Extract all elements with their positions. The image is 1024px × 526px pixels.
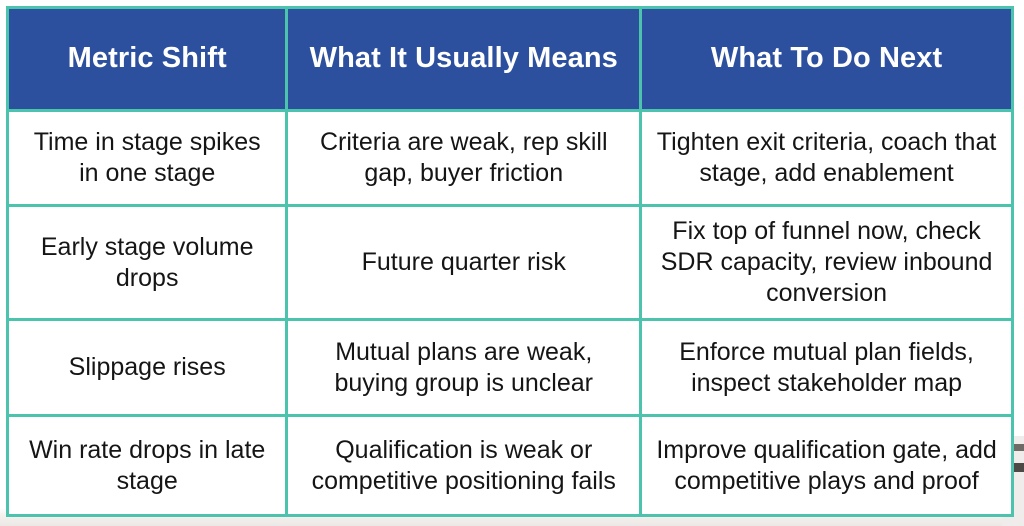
cell-what-it-usually-means: Criteria are weak, rep skill gap, buyer … [287, 111, 641, 206]
cell-metric-shift-text: Slippage rises [23, 352, 271, 383]
column-header-what-it-usually-means: What It Usually Means [287, 8, 641, 111]
cell-what-it-usually-means-text: Future quarter risk [302, 247, 625, 278]
cell-what-to-do-next: Enforce mutual plan fields, inspect stak… [641, 320, 1013, 416]
cell-what-it-usually-means-text: Criteria are weak, rep skill gap, buyer … [302, 127, 625, 189]
cell-what-it-usually-means: Mutual plans are weak, buying group is u… [287, 320, 641, 416]
column-header-metric-shift: Metric Shift [8, 8, 287, 111]
column-header-what-it-usually-means-label: What It Usually Means [302, 42, 625, 75]
cell-what-it-usually-means: Future quarter risk [287, 206, 641, 320]
cell-what-to-do-next: Tighten exit criteria, coach that stage,… [641, 111, 1013, 206]
cell-metric-shift: Early stage volume drops [8, 206, 287, 320]
table-row: Slippage rises Mutual plans are weak, bu… [8, 320, 1013, 416]
cell-what-it-usually-means: Qualification is weak or competitive pos… [287, 416, 641, 516]
metric-shift-table: Metric Shift What It Usually Means What … [6, 6, 1014, 517]
cell-metric-shift-text: Early stage volume drops [23, 232, 271, 294]
cell-what-it-usually-means-text: Qualification is weak or competitive pos… [302, 435, 625, 497]
cell-what-to-do-next-text: Enforce mutual plan fields, inspect stak… [656, 337, 997, 399]
table-row: Time in stage spikes in one stage Criter… [8, 111, 1013, 206]
table-row: Early stage volume drops Future quarter … [8, 206, 1013, 320]
cell-what-to-do-next-text: Tighten exit criteria, coach that stage,… [656, 127, 997, 189]
slide-canvas: Metric Shift What It Usually Means What … [0, 0, 1024, 526]
cell-metric-shift: Time in stage spikes in one stage [8, 111, 287, 206]
metric-shift-table-container: Metric Shift What It Usually Means What … [6, 6, 1014, 514]
table-body: Time in stage spikes in one stage Criter… [8, 111, 1013, 516]
column-header-what-to-do-next-label: What To Do Next [656, 42, 997, 75]
cell-metric-shift-text: Time in stage spikes in one stage [23, 127, 271, 189]
cell-what-to-do-next: Fix top of funnel now, check SDR capacit… [641, 206, 1013, 320]
cell-metric-shift-text: Win rate drops in late stage [23, 435, 271, 497]
column-header-metric-shift-label: Metric Shift [23, 42, 271, 75]
cell-what-it-usually-means-text: Mutual plans are weak, buying group is u… [302, 337, 625, 399]
cell-what-to-do-next-text: Improve qualification gate, add competit… [656, 435, 997, 497]
cell-what-to-do-next: Improve qualification gate, add competit… [641, 416, 1013, 516]
cell-metric-shift: Win rate drops in late stage [8, 416, 287, 516]
table-row: Win rate drops in late stage Qualificati… [8, 416, 1013, 516]
cell-metric-shift: Slippage rises [8, 320, 287, 416]
column-header-what-to-do-next: What To Do Next [641, 8, 1013, 111]
table-header-row: Metric Shift What It Usually Means What … [8, 8, 1013, 111]
table-header: Metric Shift What It Usually Means What … [8, 8, 1013, 111]
cell-what-to-do-next-text: Fix top of funnel now, check SDR capacit… [656, 216, 997, 308]
